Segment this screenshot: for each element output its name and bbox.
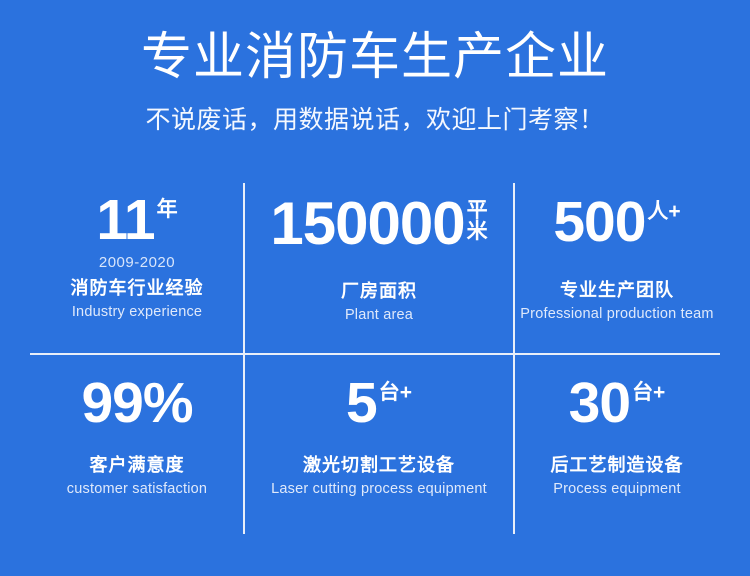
stat-value-row: 150000 平 米 (270, 196, 487, 251)
stat-cell-plant-area: 150000 平 米 厂房面积 Plant area (244, 183, 514, 353)
stat-label-cn: 激光切割工艺设备 (303, 455, 455, 476)
stat-label-en: Professional production team (520, 306, 713, 323)
stat-unit-char-2: 米 (467, 221, 488, 242)
stat-label-cn: 后工艺制造设备 (551, 455, 684, 476)
stat-value-row: 99% (81, 377, 192, 429)
page-subtitle: 不说废话，用数据说话，欢迎上门考察！ (0, 105, 750, 135)
stat-value: 500 (553, 196, 645, 248)
stat-label-en: Industry experience (72, 304, 202, 321)
stat-value: 99% (81, 377, 192, 429)
stat-cell-process-equipment: 30 台+ 后工艺制造设备 Process equipment (514, 353, 720, 534)
stat-cell-laser-cutting-equipment: 5 台+ 激光切割工艺设备 Laser cutting process equi… (244, 353, 514, 534)
stat-unit: 台+ (379, 377, 412, 403)
stat-label-en: Process equipment (553, 481, 681, 498)
stat-value: 30 (569, 377, 630, 429)
stat-label-cn: 专业生产团队 (560, 280, 674, 301)
stat-value: 11 (96, 194, 154, 246)
stat-label-cn: 厂房面积 (341, 281, 417, 302)
stat-label-en: Laser cutting process equipment (271, 481, 487, 498)
stat-label-cn: 客户满意度 (90, 455, 185, 476)
page-title: 专业消防车生产企业 (0, 28, 750, 85)
stat-unit: 平 米 (467, 196, 488, 242)
stat-value-row: 500 人+ (553, 196, 680, 248)
stat-unit: 台+ (632, 377, 665, 403)
stat-cell-customer-satisfaction: 99% 客户满意度 customer satisfaction (30, 353, 244, 534)
stats-grid: 11 年 2009-2020 消防车行业经验 Industry experien… (30, 183, 720, 534)
stat-label-en: customer satisfaction (67, 481, 207, 498)
stat-label-cn: 消防车行业经验 (71, 278, 204, 299)
stat-value-row: 5 台+ (346, 377, 412, 429)
stat-value-row: 11 年 (96, 194, 177, 246)
banner-header: 专业消防车生产企业 不说废话，用数据说话，欢迎上门考察！ (0, 0, 750, 135)
stat-cell-production-team: 500 人+ 专业生产团队 Professional production te… (514, 183, 720, 353)
stat-value: 150000 (270, 196, 464, 251)
stat-value-row: 30 台+ (569, 377, 666, 429)
stat-unit: 人+ (647, 196, 680, 222)
stat-unit-char-1: 平 (467, 200, 488, 221)
stat-cell-industry-experience: 11 年 2009-2020 消防车行业经验 Industry experien… (30, 183, 244, 353)
stat-label-en: Plant area (345, 307, 413, 324)
stat-unit: 年 (157, 194, 178, 220)
promo-banner: 专业消防车生产企业 不说废话，用数据说话，欢迎上门考察！ 11 年 2009-2… (0, 0, 750, 576)
stat-note: 2009-2020 (99, 255, 175, 272)
stat-value: 5 (346, 377, 377, 429)
